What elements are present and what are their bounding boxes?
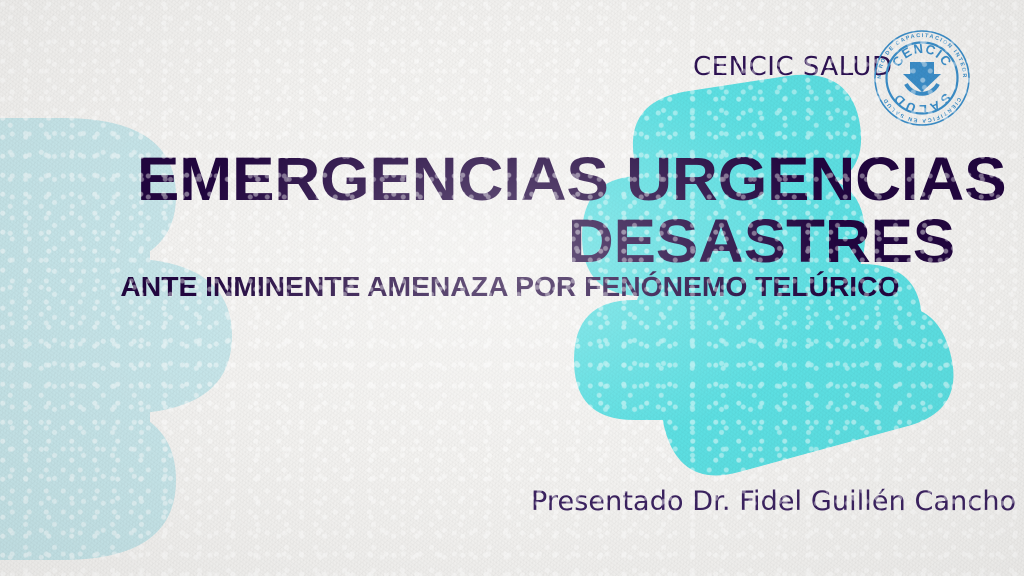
title-line-2: DESASTRES [0, 210, 1024, 272]
presenter-credit: Presentado Dr. Fidel Guillén Cancho [531, 486, 1016, 517]
logo-down-arrow-icon [903, 62, 941, 94]
subtitle: ANTE INMINENTE AMENAZA POR FENÓNEMO TELÚ… [0, 272, 1024, 302]
cencic-salud-logo: CENTRO DE CAPACITACION INTEGRAL CIENTIFI… [866, 22, 978, 134]
page-title: EMERGENCIAS URGENCIAS Y DESASTRES [0, 148, 1024, 272]
title-line-1: EMERGENCIAS URGENCIAS Y [0, 148, 1024, 210]
brand-name: CENCIC SALUD [693, 52, 893, 82]
title-slide: CENCIC SALUD CENTRO DE CAPACITACION INTE… [0, 0, 1024, 576]
